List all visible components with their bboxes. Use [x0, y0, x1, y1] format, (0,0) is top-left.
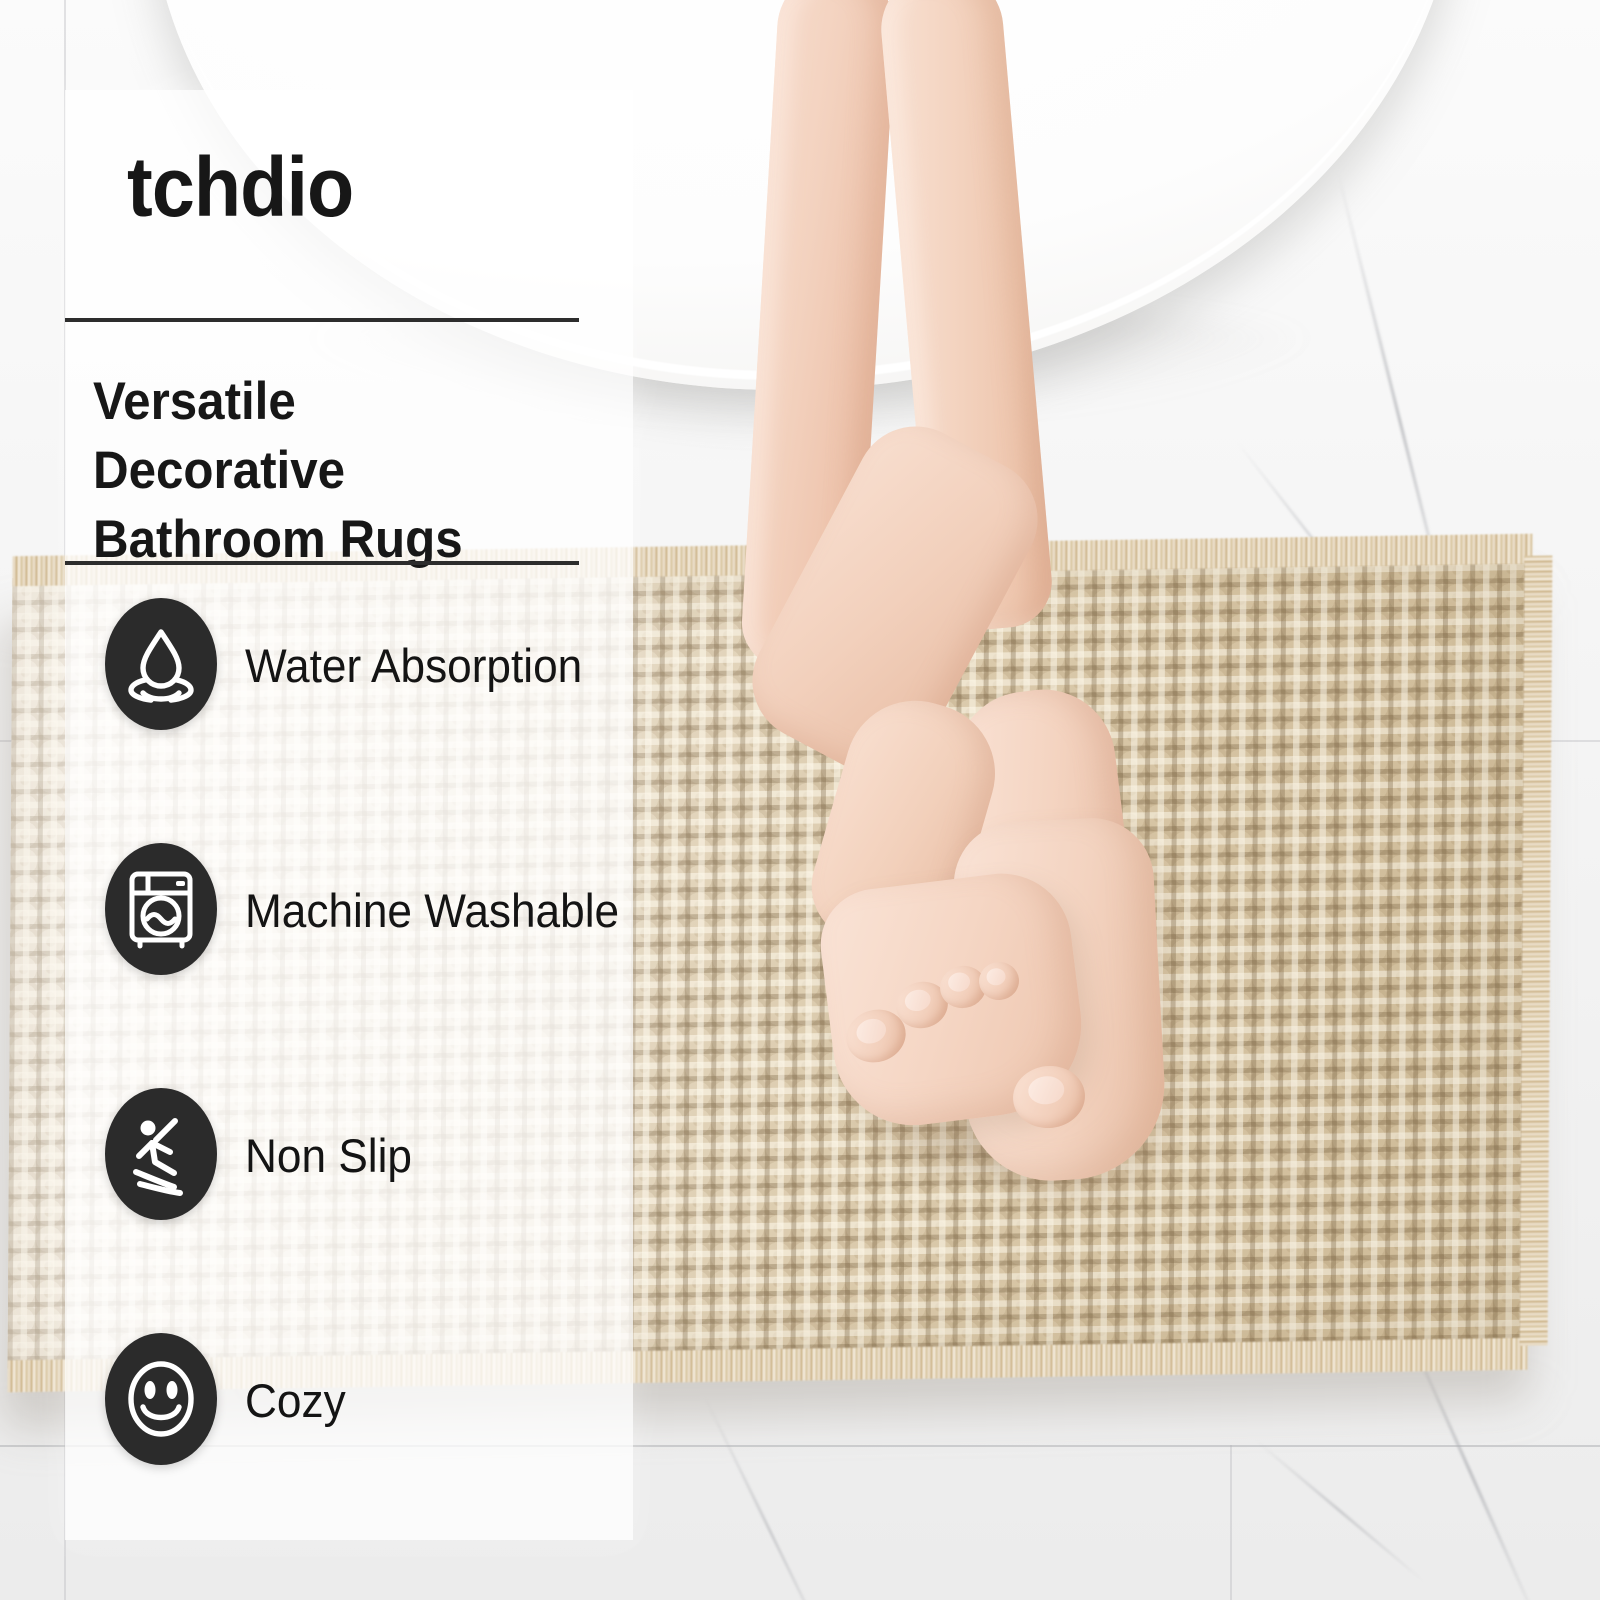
brand-logo-text: tchdio	[127, 145, 353, 229]
page-title: Versatile Decorative Bathroom Rugs	[93, 368, 558, 575]
feature-item-machine-washable: Machine Washable	[65, 835, 633, 1080]
headline-line-2: Bathroom Rugs	[93, 510, 463, 569]
feature-label-machine-washable: Machine Washable	[245, 883, 619, 938]
divider-top	[65, 318, 579, 322]
feature-item-water-absorption: Water Absorption	[65, 590, 633, 835]
product-marketing-image: tchdio Versatile Decorative Bathroom Rug…	[0, 0, 1600, 1600]
slip-hazard-icon	[105, 1088, 217, 1220]
water-drop-icon	[105, 598, 217, 730]
feature-label-water-absorption: Water Absorption	[245, 638, 582, 693]
feature-label-non-slip: Non Slip	[245, 1128, 412, 1183]
info-panel: tchdio Versatile Decorative Bathroom Rug…	[65, 90, 633, 1540]
smiley-face-icon	[105, 1333, 217, 1465]
divider-bottom	[65, 561, 579, 565]
tile-grout-vertical-right	[1230, 1445, 1232, 1600]
feature-item-cozy: Cozy	[65, 1325, 633, 1570]
rug-fringe-right	[1520, 555, 1553, 1346]
feature-list: Water Absorption	[65, 590, 633, 1570]
washing-machine-icon	[105, 843, 217, 975]
feature-item-non-slip: Non Slip	[65, 1080, 633, 1325]
headline-line-1: Versatile Decorative	[93, 372, 345, 500]
feature-label-cozy: Cozy	[245, 1373, 346, 1428]
